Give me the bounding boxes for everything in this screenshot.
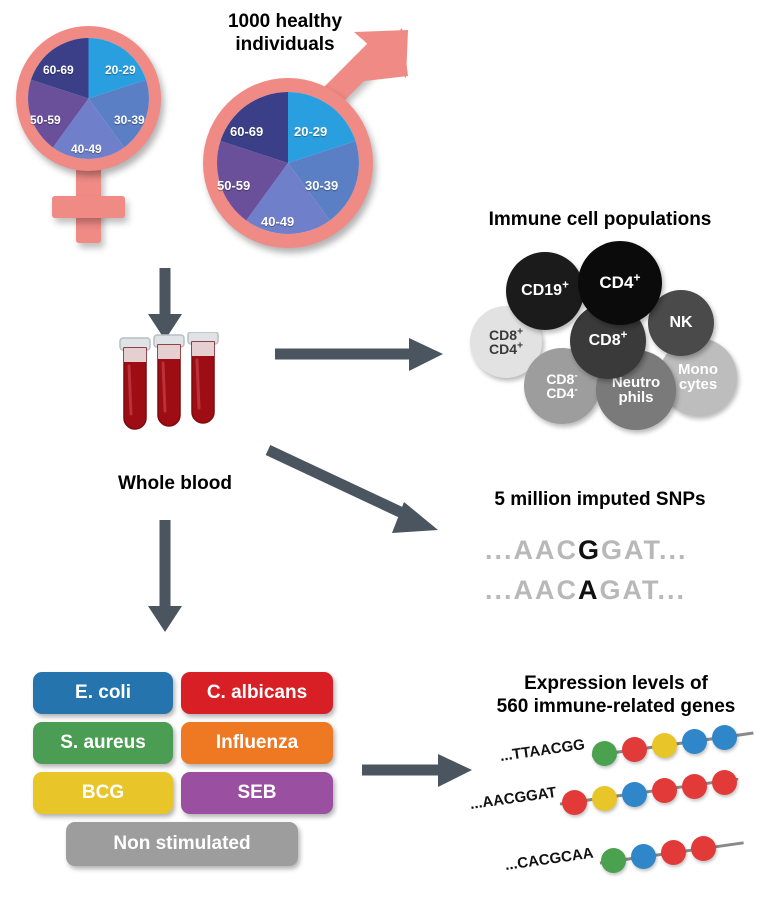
cell-neutrophils-line2: phils	[618, 390, 653, 405]
gene-bead-1-4	[682, 729, 707, 754]
immune-title: Immune cell populations	[440, 208, 760, 231]
snp-row2-prefix: ...AAC	[485, 575, 578, 605]
gene-bead-1-2	[622, 737, 647, 762]
snp-sequence-row-2: ...AACAGAT...	[485, 575, 686, 606]
stimulus-s-aureus[interactable]: S. aureus	[33, 722, 173, 764]
gene-bead-1-1	[592, 741, 617, 766]
cell-cd8neg-cd4neg-line1: CD8-	[546, 372, 577, 386]
male-age-30-39: 30-39	[305, 178, 338, 193]
cell-nk-label: NK	[669, 315, 692, 331]
stimulus-bcg[interactable]: BCG	[33, 772, 173, 814]
gene-bead-2-3	[622, 782, 647, 807]
stimulus-s-aureus-label: S. aureus	[60, 732, 146, 754]
gene-bead-2-5	[682, 774, 707, 799]
gene-bead-3-2	[631, 844, 656, 869]
gene-bead-3-4	[691, 836, 716, 861]
gene-bead-3-1	[601, 848, 626, 873]
female-gender-symbol: 20-29 30-39 40-49 50-59 60-69	[8, 18, 188, 243]
snp-row1-highlight: G	[578, 535, 601, 565]
blood-tubes	[108, 332, 238, 452]
stimulus-c-albicans[interactable]: C. albicans	[181, 672, 333, 714]
female-age-20-29: 20-29	[105, 63, 136, 77]
cell-cd8pos-label: CD8+	[589, 333, 628, 349]
cell-cd4pos: CD4+	[578, 241, 662, 325]
arrow-stimuli-to-genes	[362, 748, 482, 798]
gene-bead-1-5	[712, 725, 737, 750]
arrow-blood-to-stimuli	[140, 520, 200, 640]
genes-title-line1: Expression levels of	[468, 672, 764, 695]
whole-blood-label: Whole blood	[80, 472, 270, 495]
female-symbol-crossbar	[52, 196, 125, 218]
snp-row1-prefix: ...AAC	[485, 535, 578, 565]
gene-strand-3: ...CACGCAA	[505, 835, 765, 895]
snp-row2-suffix: GAT...	[600, 575, 687, 605]
snp-sequence-row-1: ...AACGGAT...	[485, 535, 688, 566]
male-gender-symbol: 20-29 30-39 40-49 50-59 60-69	[195, 38, 425, 258]
female-age-30-39: 30-39	[114, 113, 145, 127]
female-age-40-49: 40-49	[71, 142, 102, 156]
female-age-60-69: 60-69	[43, 63, 74, 77]
gene-bead-2-2	[592, 786, 617, 811]
male-age-20-29: 20-29	[294, 124, 327, 139]
stimulus-e-coli[interactable]: E. coli	[33, 672, 173, 714]
cell-cd19pos: CD19+	[506, 252, 584, 330]
gene-bead-2-6	[712, 770, 737, 795]
stimulus-non-stimulated-label: Non stimulated	[113, 833, 250, 855]
male-age-50-59: 50-59	[217, 178, 250, 193]
cell-monocytes-line2: cytes	[679, 377, 717, 392]
stimulus-e-coli-label: E. coli	[75, 682, 131, 704]
cell-monocytes-line1: Mono	[678, 362, 718, 377]
genes-title: Expression levels of 560 immune-related …	[468, 672, 764, 718]
female-age-50-59: 50-59	[30, 113, 61, 127]
gene-bead-2-4	[652, 778, 677, 803]
stimulus-seb-label: SEB	[237, 782, 276, 804]
cell-cd8neg-cd4neg-line2: CD4-	[546, 386, 577, 400]
gene-bead-2-1	[562, 790, 587, 815]
stimulus-influenza-label: Influenza	[216, 732, 298, 754]
male-age-60-69: 60-69	[230, 124, 263, 139]
gene-bead-1-3	[652, 733, 677, 758]
stimulus-bcg-label: BCG	[82, 782, 124, 804]
genes-title-line2: 560 immune-related genes	[468, 695, 764, 718]
arrow-blood-to-snps	[268, 440, 458, 550]
snp-row2-highlight: A	[578, 575, 600, 605]
cell-cd19pos-label: CD19+	[521, 283, 569, 299]
snps-title: 5 million imputed SNPs	[450, 488, 750, 511]
figure-canvas: 1000 healthy individuals 20-29 30-39 40-…	[0, 0, 771, 922]
stimulus-non-stimulated[interactable]: Non stimulated	[66, 822, 298, 866]
female-pie-chart	[28, 38, 149, 159]
male-age-40-49: 40-49	[261, 214, 294, 229]
cell-cd4pos-label: CD4+	[599, 274, 640, 291]
gene-strand-2: ...AACGGAT	[470, 778, 760, 838]
stimulus-influenza[interactable]: Influenza	[181, 722, 333, 764]
stimulus-seb[interactable]: SEB	[181, 772, 333, 814]
arrow-blood-to-immune	[275, 332, 455, 382]
snp-row1-suffix: GAT...	[601, 535, 688, 565]
male-pie-chart	[217, 92, 359, 234]
male-symbol-arrowhead	[350, 26, 420, 96]
gene-bead-3-3	[661, 840, 686, 865]
stimulus-c-albicans-label: C. albicans	[207, 682, 307, 704]
cell-cd8pos-cd4pos-line2: CD4+	[489, 342, 523, 356]
